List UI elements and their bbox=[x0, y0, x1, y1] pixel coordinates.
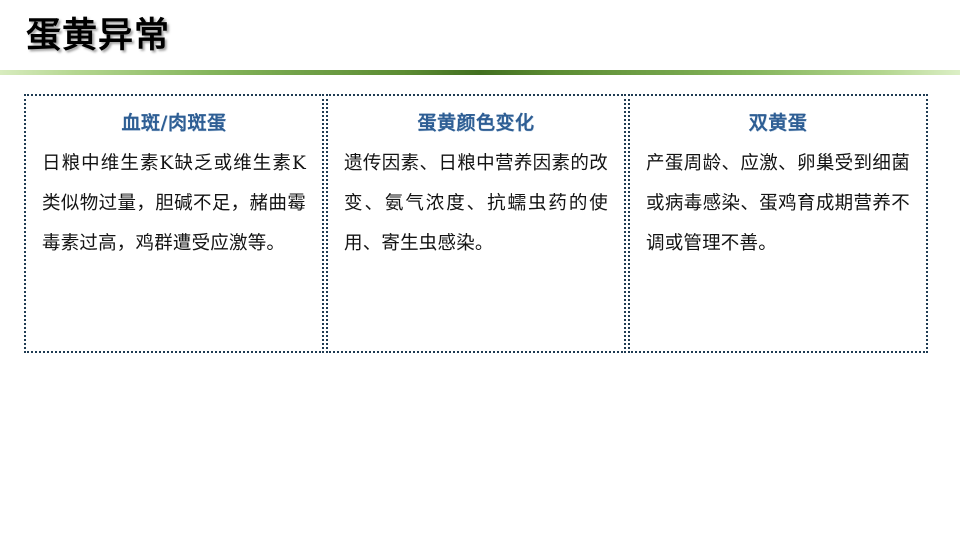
card-blood-spot-egg[interactable]: 血斑/肉斑蛋 日粮中维生素K缺乏或维生素K类似物过量，胆碱不足，赭曲霉毒素过高，… bbox=[24, 94, 324, 353]
card-heading: 双黄蛋 bbox=[646, 110, 910, 136]
card-body-text: 遗传因素、日粮中营养因素的改变、氨气浓度、抗蠕虫药的使用、寄生虫感染。 bbox=[344, 144, 608, 264]
card-group: 血斑/肉斑蛋 日粮中维生素K缺乏或维生素K类似物过量，胆碱不足，赭曲霉毒素过高，… bbox=[24, 94, 928, 353]
card-heading: 血斑/肉斑蛋 bbox=[42, 110, 306, 136]
page-title: 蛋黄异常 bbox=[26, 14, 170, 58]
card-double-yolk-egg[interactable]: 双黄蛋 产蛋周龄、应激、卵巢受到细菌或病毒感染、蛋鸡育成期营养不调或管理不善。 bbox=[628, 94, 928, 353]
card-body-text: 日粮中维生素K缺乏或维生素K类似物过量，胆碱不足，赭曲霉毒素过高，鸡群遭受应激等… bbox=[42, 144, 306, 264]
slide-root: 蛋黄异常 血斑/肉斑蛋 日粮中维生素K缺乏或维生素K类似物过量，胆碱不足，赭曲霉… bbox=[0, 0, 960, 540]
title-divider-rule bbox=[0, 70, 960, 75]
card-body-text: 产蛋周龄、应激、卵巢受到细菌或病毒感染、蛋鸡育成期营养不调或管理不善。 bbox=[646, 144, 910, 264]
card-yolk-color-change[interactable]: 蛋黄颜色变化 遗传因素、日粮中营养因素的改变、氨气浓度、抗蠕虫药的使用、寄生虫感… bbox=[326, 94, 626, 353]
card-heading: 蛋黄颜色变化 bbox=[344, 110, 608, 136]
